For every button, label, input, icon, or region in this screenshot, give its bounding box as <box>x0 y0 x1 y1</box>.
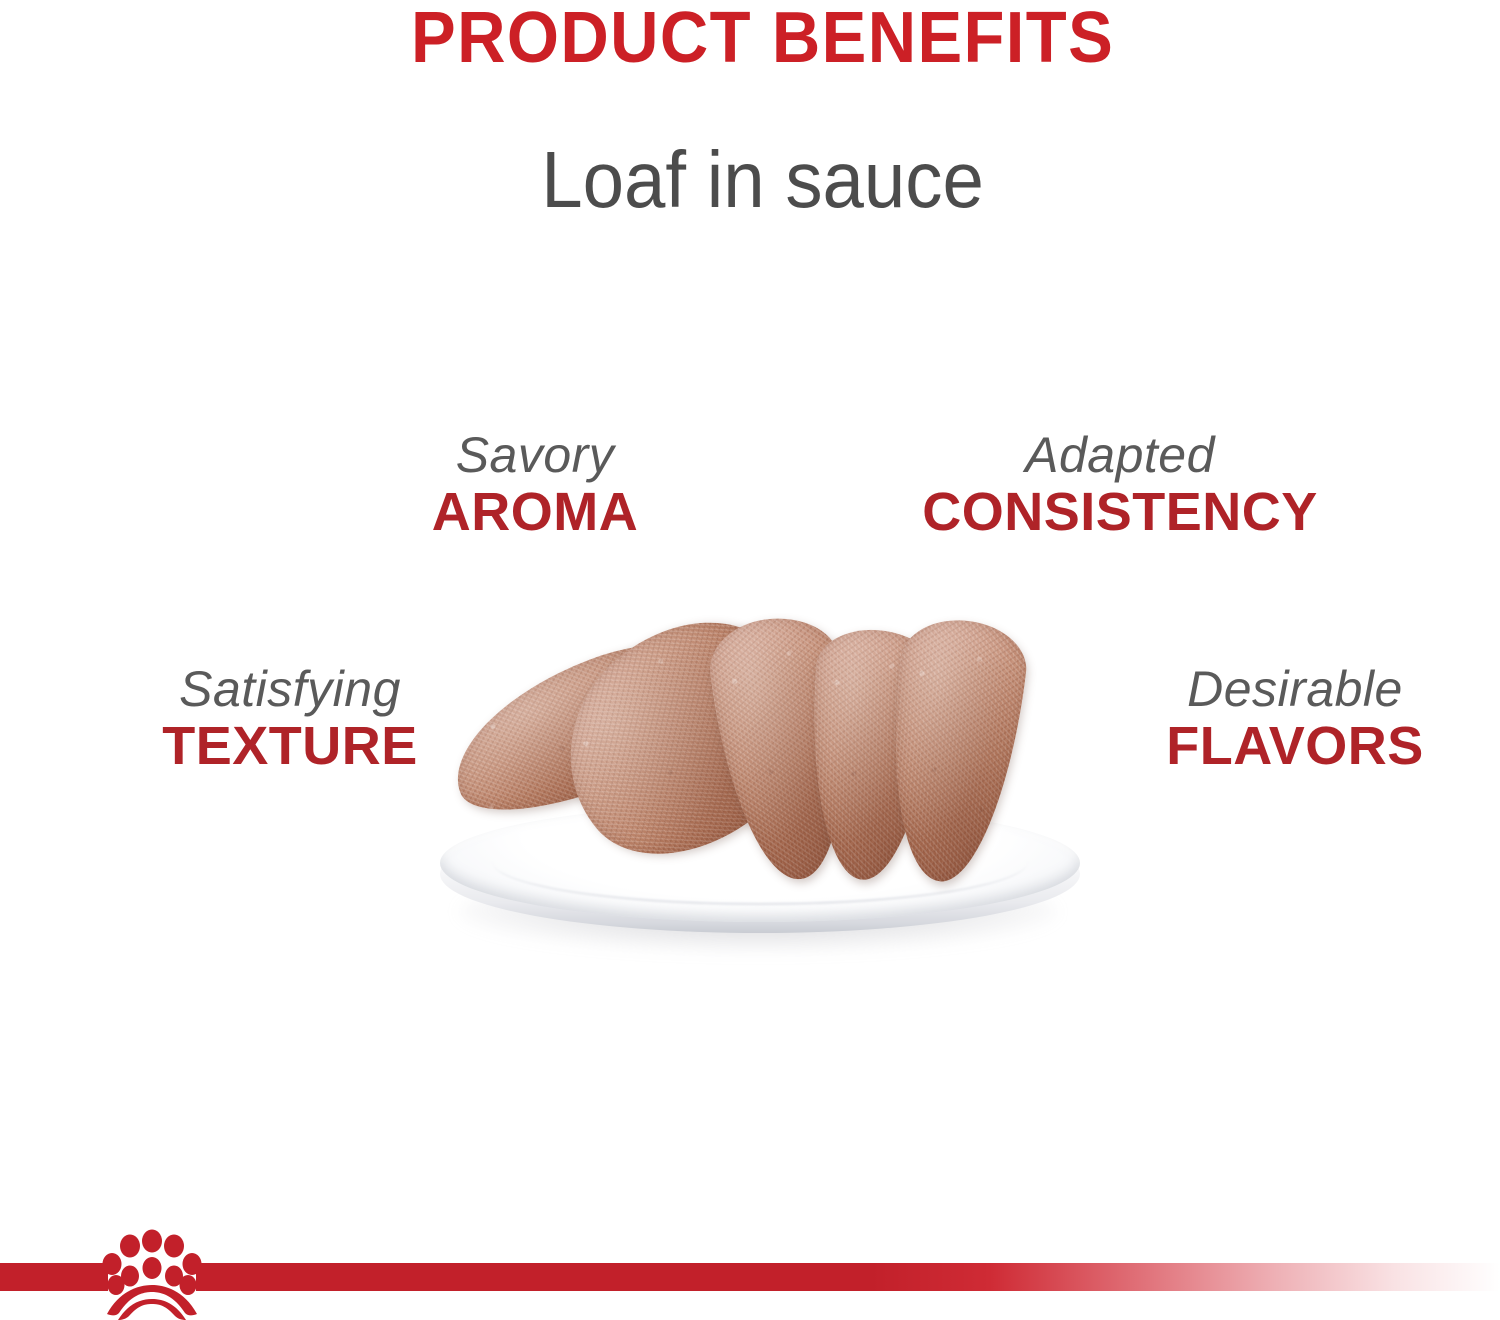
benefit-aroma-adjective: Savory <box>300 428 770 482</box>
benefit-aroma: Savory AROMA <box>300 428 770 542</box>
benefit-consistency-adjective: Adapted <box>840 428 1400 482</box>
page-title: PRODUCT BENEFITS <box>0 2 1500 74</box>
page-subtitle: Loaf in sauce <box>0 140 1500 220</box>
benefit-consistency-noun: CONSISTENCY <box>840 482 1400 542</box>
royal-canin-crown-logo <box>100 1228 204 1320</box>
benefit-flavors-adjective: Desirable <box>1085 662 1500 716</box>
benefit-aroma-noun: AROMA <box>300 482 770 542</box>
product-benefits-page: PRODUCT BENEFITS Loaf in sauce Savory AR… <box>0 0 1500 1320</box>
benefit-flavors: Desirable FLAVORS <box>1085 662 1500 776</box>
benefit-consistency: Adapted CONSISTENCY <box>840 428 1400 542</box>
benefit-flavors-noun: FLAVORS <box>1085 716 1500 776</box>
footer-brand-bar <box>0 1263 1500 1291</box>
product-image-loaf-on-plate <box>420 600 1100 1000</box>
